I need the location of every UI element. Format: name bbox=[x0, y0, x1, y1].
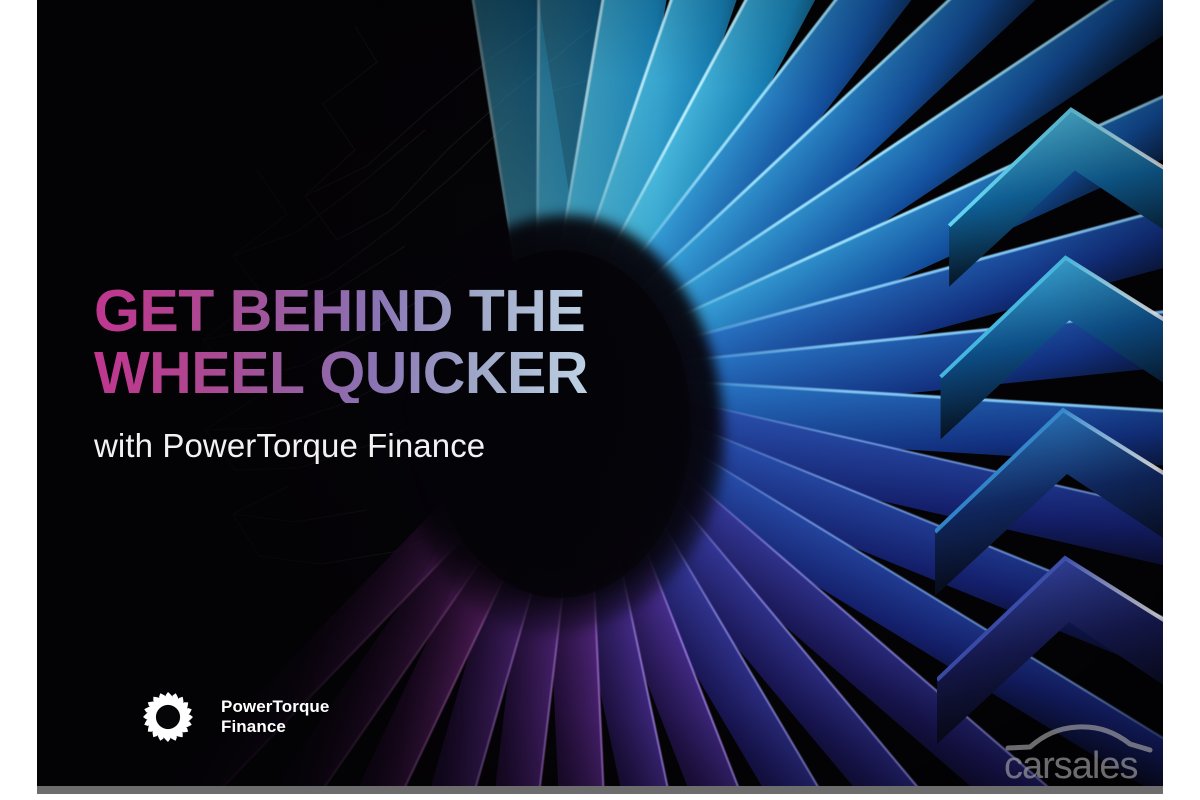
brand-name-line-1: PowerTorque bbox=[221, 697, 329, 717]
brand-name-line-2: Finance bbox=[221, 717, 329, 737]
brand-lockup[interactable]: PowerTorque Finance bbox=[129, 678, 329, 756]
advertisement-banner[interactable]: GET BEHIND THE WHEEL QUICKER with PowerT… bbox=[37, 0, 1163, 793]
bottom-strip bbox=[37, 786, 1163, 794]
headline-line-2: WHEEL QUICKER bbox=[94, 345, 734, 403]
car-silhouette-icon: carsales bbox=[1000, 722, 1163, 784]
headline-line-1: GET BEHIND THE bbox=[94, 283, 734, 341]
turbine-icon bbox=[129, 678, 207, 756]
banner-copy: GET BEHIND THE WHEEL QUICKER with PowerT… bbox=[94, 283, 734, 465]
carsales-watermark: carsales bbox=[1000, 722, 1163, 784]
brand-name: PowerTorque Finance bbox=[221, 697, 329, 736]
subheadline: with PowerTorque Finance bbox=[94, 427, 734, 465]
page-canvas: GET BEHIND THE WHEEL QUICKER with PowerT… bbox=[0, 0, 1200, 800]
watermark-label: carsales bbox=[1004, 745, 1138, 784]
